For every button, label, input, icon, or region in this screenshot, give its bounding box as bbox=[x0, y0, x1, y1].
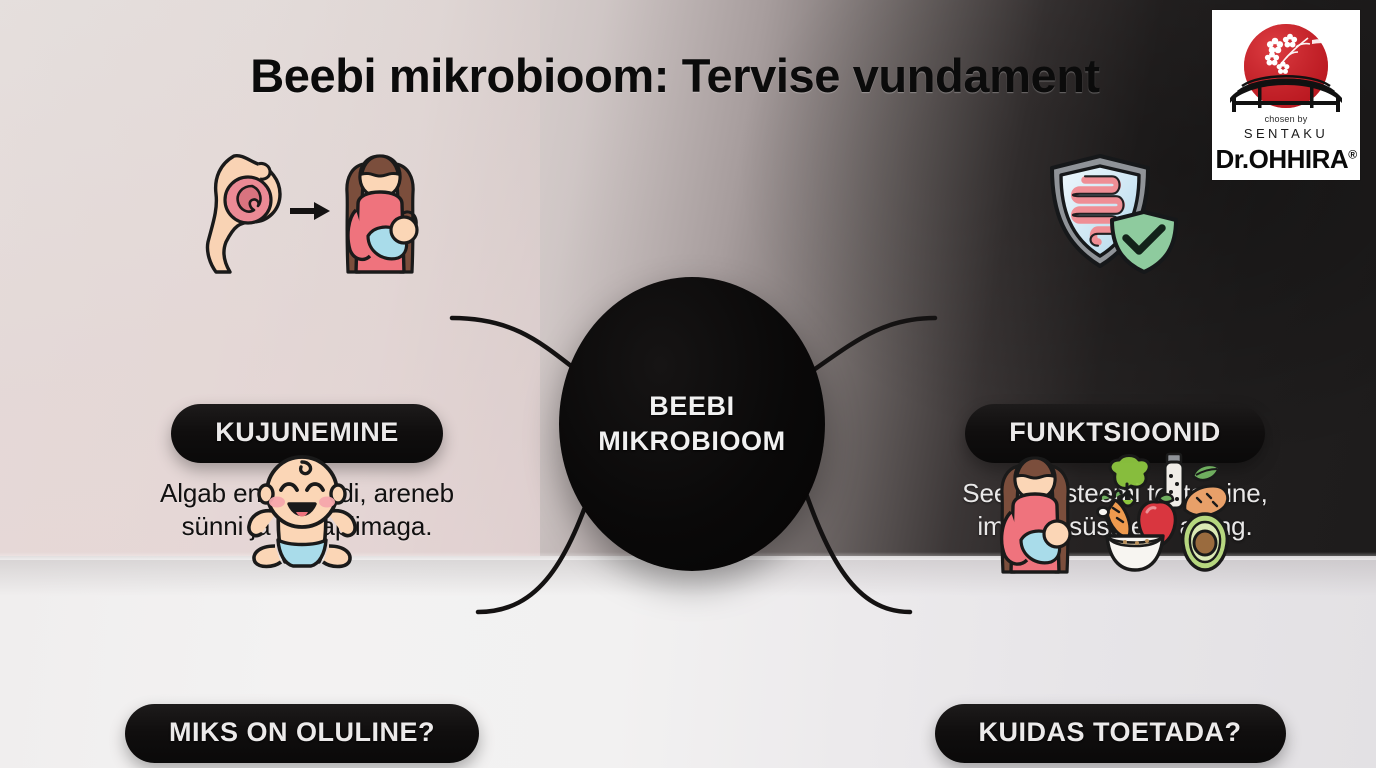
node-miks-on-oluline-pill-row: MIKS ON OLULINE? bbox=[62, 704, 542, 763]
node-miks-on-oluline-badge[interactable]: MIKS ON OLULINE? bbox=[125, 704, 479, 763]
happy-baby-icon bbox=[62, 450, 542, 576]
logo-chosen-by-text: chosen by bbox=[1212, 114, 1360, 124]
infographic-canvas: Beebi mikrobioom: Tervise vundament bbox=[0, 0, 1376, 768]
arrow-right-icon bbox=[290, 202, 330, 220]
center-hub-label-line2: MIKROBIOOM bbox=[598, 424, 786, 459]
page-title: Beebi mikrobioom: Tervise vundament bbox=[0, 48, 1376, 103]
node-miks-on-oluline-label: MIKS ON OLULINE? bbox=[169, 717, 435, 747]
red-sun-plum-blossom-bridge-icon bbox=[1212, 16, 1360, 114]
center-hub-label-line1: BEEBI bbox=[598, 389, 786, 424]
center-hub: BEEBI MIKROBIOOM bbox=[559, 277, 825, 571]
node-kuidas-toetada-label: KUIDAS TOETADA? bbox=[979, 717, 1242, 747]
pregnancy-to-breastfeeding-icon bbox=[62, 150, 552, 276]
center-hub-label: BEEBI MIKROBIOOM bbox=[598, 389, 786, 458]
node-kuidas-toetada-pill-row: KUIDAS TOETADA? bbox=[860, 704, 1360, 763]
node-funktsioonid-label: FUNKTSIOONID bbox=[1009, 417, 1221, 447]
node-kuidas-toetada-badge[interactable]: KUIDAS TOETADA? bbox=[935, 704, 1286, 763]
node-miks-on-oluline: MIKS ON OLULINE? Mõjutab allergiate ja k… bbox=[62, 450, 542, 768]
node-kujunemine-label: KUJUNEMINE bbox=[215, 417, 399, 447]
node-kuidas-toetada: KUIDAS TOETADA? Rinnapiim, mitmekülgne t… bbox=[860, 450, 1360, 768]
breastfeeding-and-healthy-food-icon bbox=[860, 450, 1360, 576]
gut-shield-check-icon bbox=[880, 150, 1350, 276]
logo-sentaku-text: SENTAKU bbox=[1212, 126, 1360, 141]
